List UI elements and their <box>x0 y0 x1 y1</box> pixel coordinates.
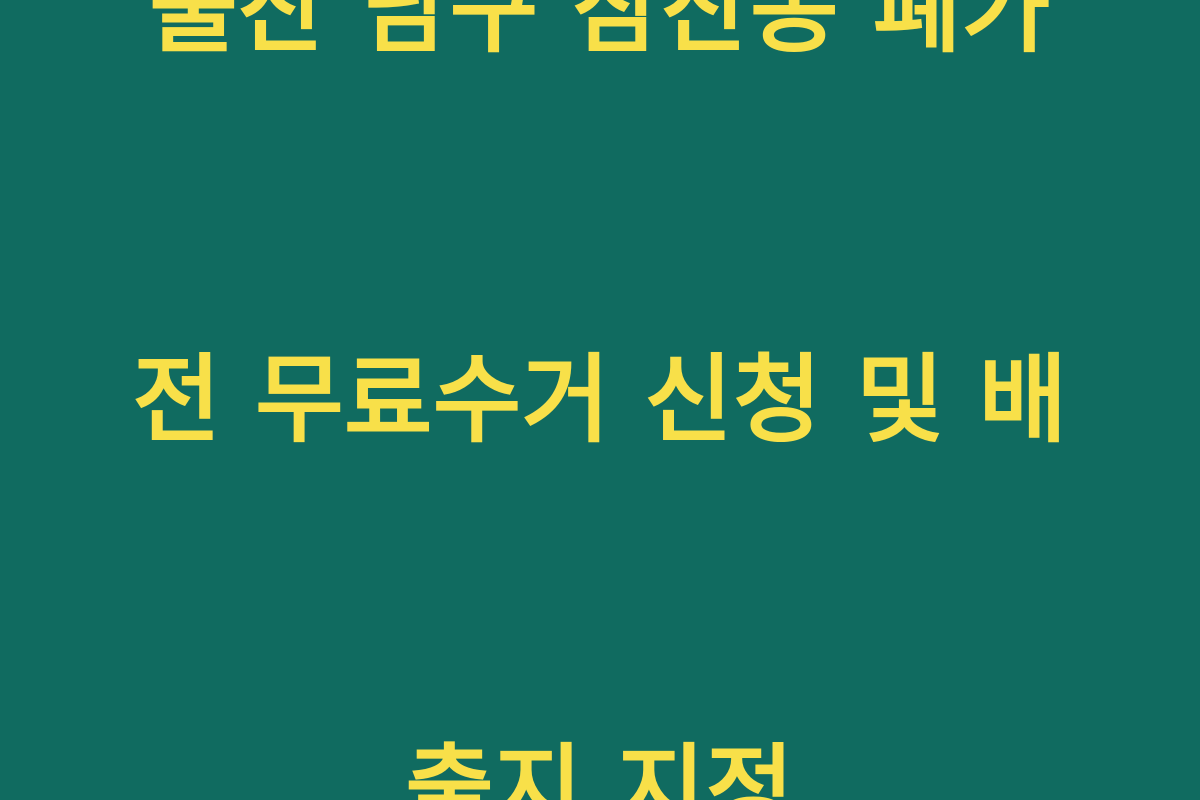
page-title-line-1: 울산 남구 삼산동 폐가 <box>105 0 1095 75</box>
page-title-line-3: 출지 지정 <box>105 725 1095 800</box>
page-title-line-2: 전 무료수거 신청 및 배 <box>105 335 1095 465</box>
banner-root: 울산 남구 삼산동 폐가 전 무료수거 신청 및 배 출지 지정 <box>0 0 1200 800</box>
page-title: 울산 남구 삼산동 폐가 전 무료수거 신청 및 배 출지 지정 <box>105 0 1095 800</box>
